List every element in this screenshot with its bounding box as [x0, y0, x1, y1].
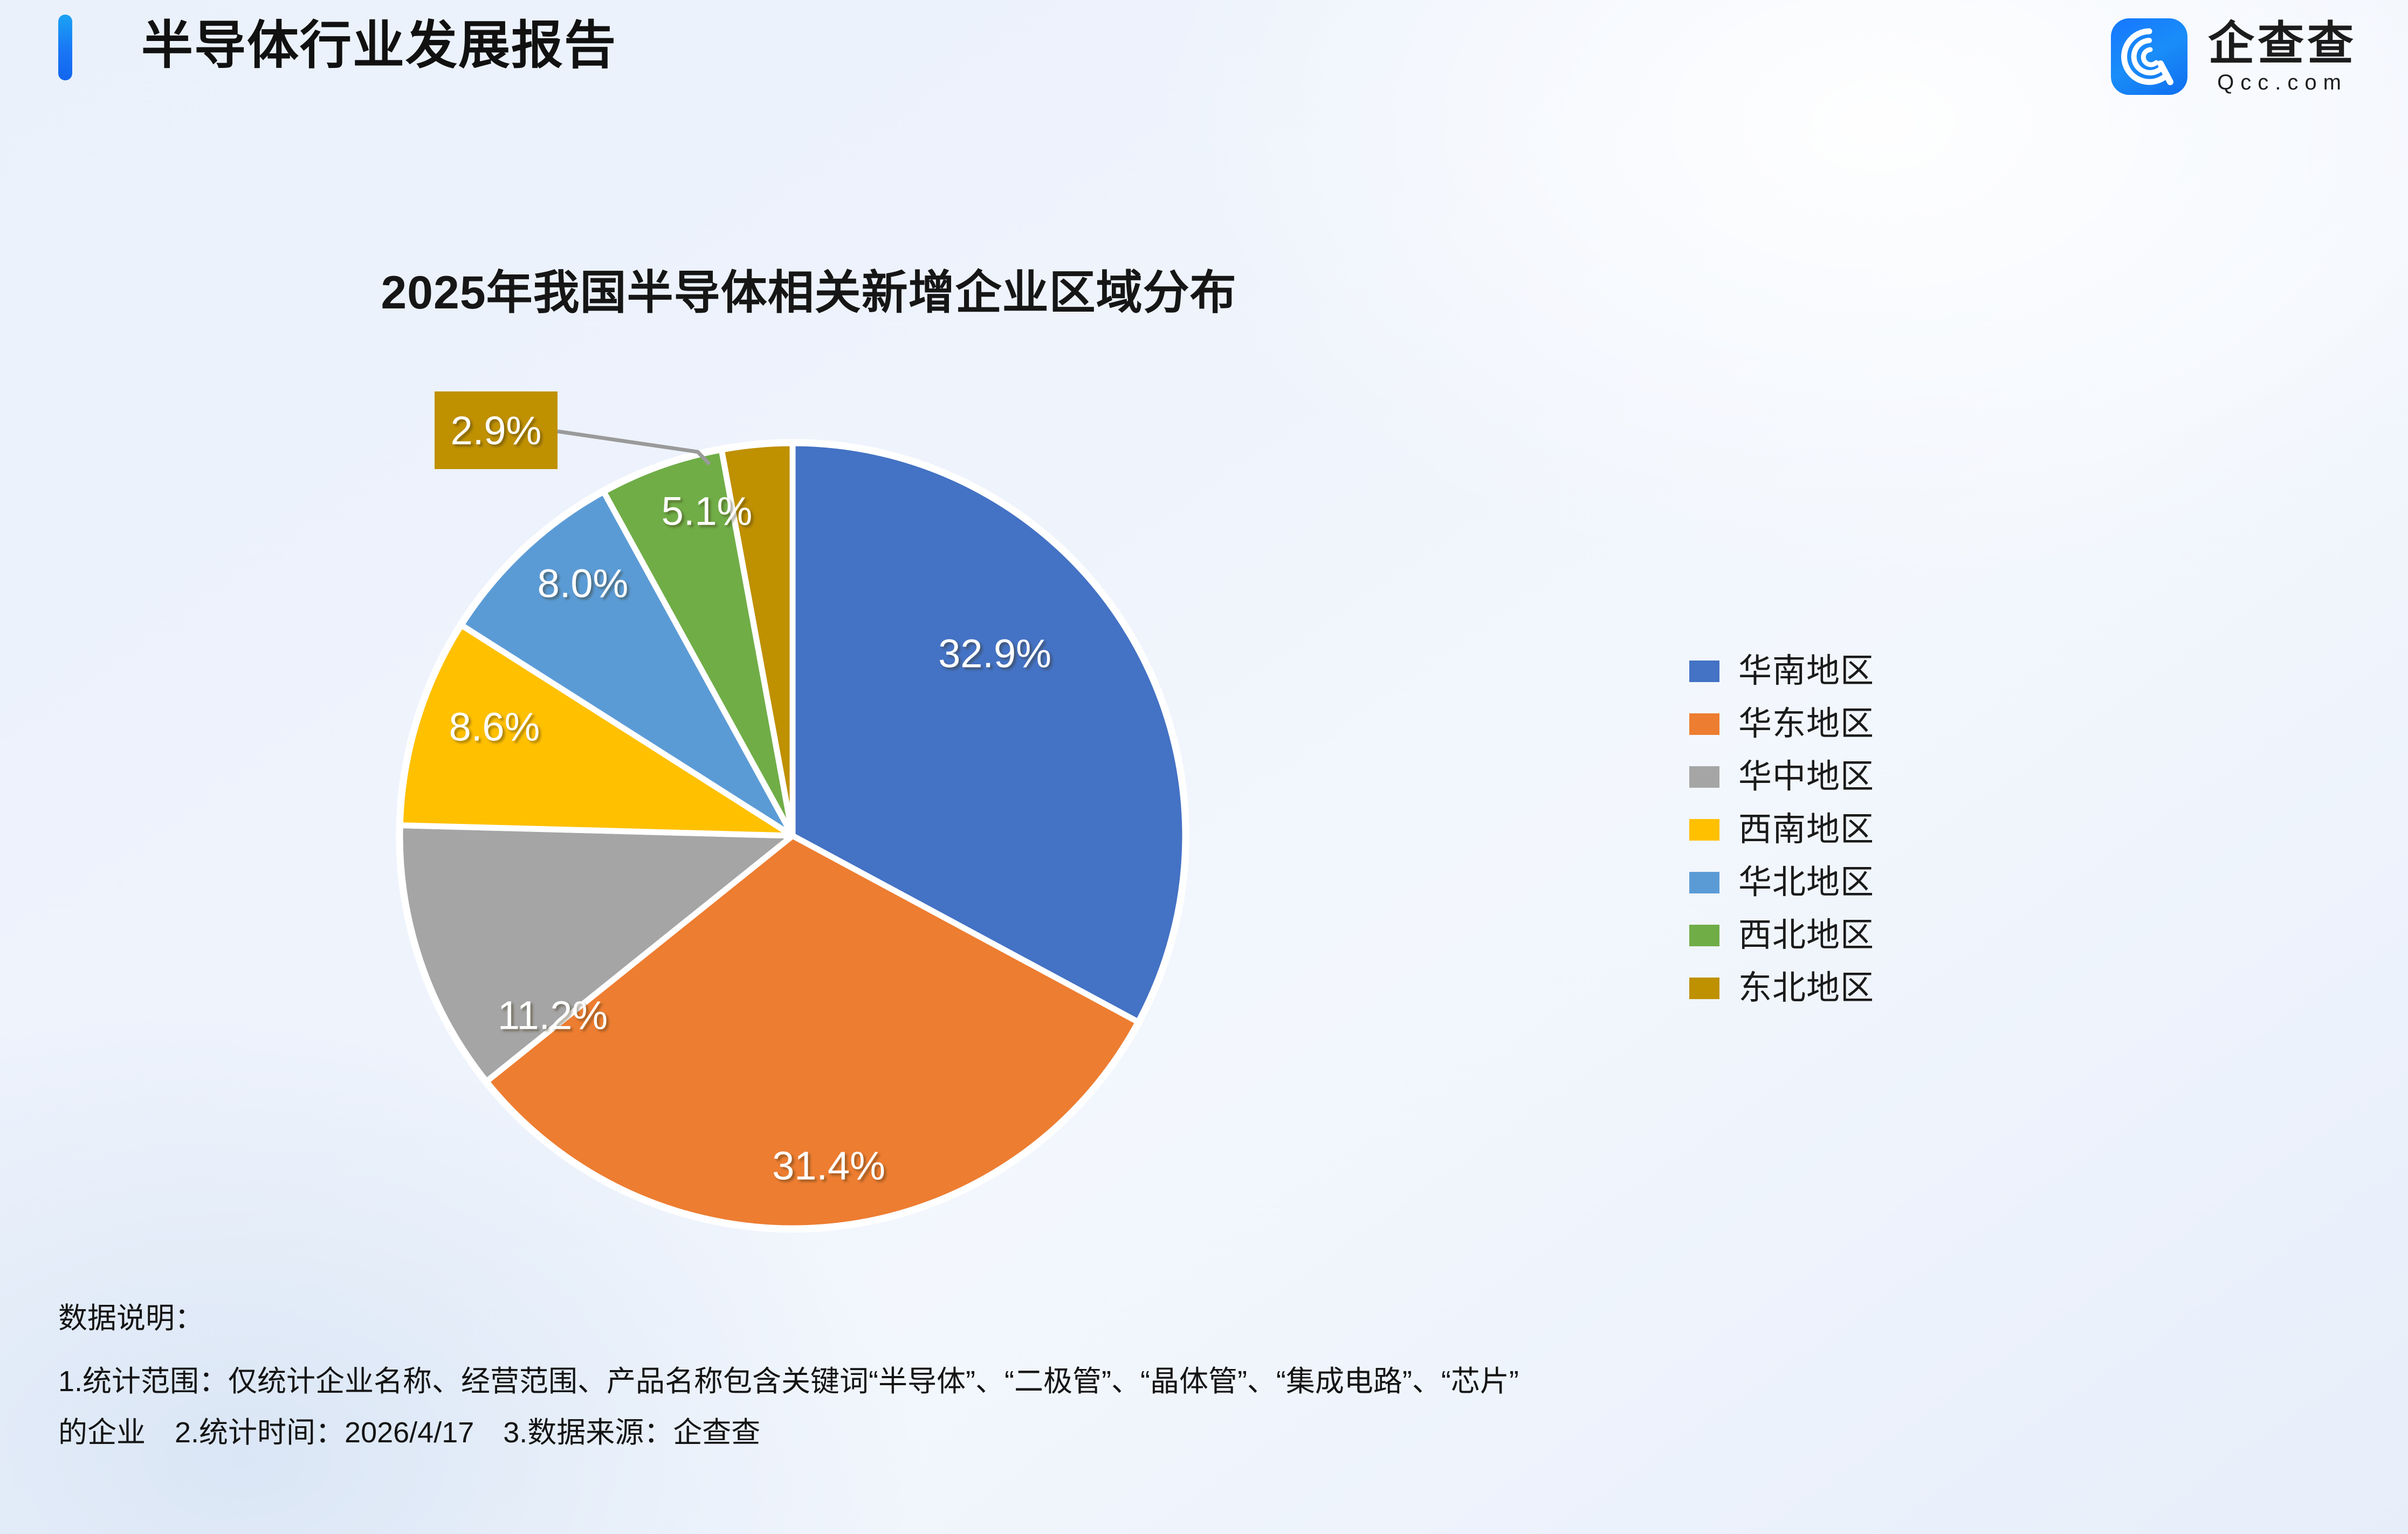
legend-item[interactable]: 华南地区: [1689, 645, 1874, 698]
page-header: 半导体行业发展报告 企查查 Qcc.com: [0, 0, 2408, 94]
slice-label-xinan: 8.6%: [449, 704, 540, 750]
slice-label-huazhong: 11.2%: [498, 993, 608, 1038]
legend-swatch-icon: [1689, 925, 1719, 946]
title-accent-bar: [58, 15, 72, 80]
footer-note-line-2: 的企业 2.统计时间：2026/4/17 3.数据来源：企查查: [58, 1407, 2366, 1459]
legend-item[interactable]: 西北地区: [1689, 909, 1874, 962]
legend-swatch-icon: [1689, 978, 1719, 999]
legend-swatch-icon: [1689, 766, 1719, 788]
legend-item-label: 华北地区: [1738, 864, 1874, 902]
callout-leader-line: [558, 431, 710, 464]
footer-note-line-1: 1.统计范围：仅统计企业名称、经营范围、产品名称包含关键词“半导体”、“二极管”…: [58, 1356, 2366, 1407]
legend-item[interactable]: 西南地区: [1689, 803, 1874, 856]
legend-item[interactable]: 华东地区: [1689, 698, 1874, 751]
legend-swatch-icon: [1689, 872, 1719, 893]
legend-item-label: 西南地区: [1738, 811, 1874, 849]
slice-label-huabei: 8.0%: [538, 561, 629, 607]
qcc-spiral-icon: [2111, 18, 2187, 95]
qcc-logo[interactable]: 企查查 Qcc.com: [2111, 19, 2357, 94]
pie-slice: [793, 443, 1185, 1022]
legend-item-label: 华南地区: [1738, 652, 1874, 690]
legend-item[interactable]: 华中地区: [1689, 751, 1874, 803]
legend-item[interactable]: 华北地区: [1689, 856, 1874, 909]
slice-label-xibei: 5.1%: [662, 489, 753, 534]
legend-item-label: 华中地区: [1738, 758, 1874, 796]
slice-label-dongbei: 2.9%: [451, 408, 542, 453]
pie-slice: [400, 625, 793, 836]
slice-label-huadong: 31.4%: [772, 1143, 885, 1189]
pie-slice: [400, 826, 793, 1082]
pie-slice: [486, 836, 1138, 1228]
chart-title: 2025年我国半导体相关新增企业区域分布: [0, 254, 1618, 322]
pie-slice: [462, 492, 793, 836]
slice-callout-dongbei: 2.9%: [435, 391, 558, 469]
footer-notes: 数据说明： 1.统计范围：仅统计企业名称、经营范围、产品名称包含关键词“半导体”…: [58, 1293, 2366, 1459]
legend-item-label: 东北地区: [1738, 969, 1874, 1007]
page-title: 半导体行业发展报告: [141, 11, 617, 81]
legend-swatch-icon: [1689, 661, 1719, 682]
pie-slice: [721, 443, 793, 836]
pie-slices: [396, 439, 1189, 1233]
qcc-logo-text: 企查查 Qcc.com: [2208, 18, 2357, 95]
slice-label-huanan: 32.9%: [938, 631, 1051, 677]
legend-item-label: 西北地区: [1738, 917, 1874, 954]
legend-item-label: 华东地区: [1738, 705, 1874, 743]
qcc-logo-en: Qcc.com: [2208, 70, 2357, 95]
legend-swatch-icon: [1689, 819, 1719, 841]
chart-legend: 华南地区华东地区华中地区西南地区华北地区西北地区东北地区: [1689, 645, 1874, 1015]
qcc-logo-cn: 企查查: [2208, 18, 2357, 69]
legend-item[interactable]: 东北地区: [1689, 962, 1874, 1015]
report-page: 半导体行业发展报告 企查查 Qcc.com 2025年我国半导体相关新增企业区域…: [0, 0, 2408, 1534]
legend-swatch-icon: [1689, 713, 1719, 735]
footer-note-heading: 数据说明：: [58, 1293, 2366, 1344]
pie-slice: [604, 450, 793, 836]
